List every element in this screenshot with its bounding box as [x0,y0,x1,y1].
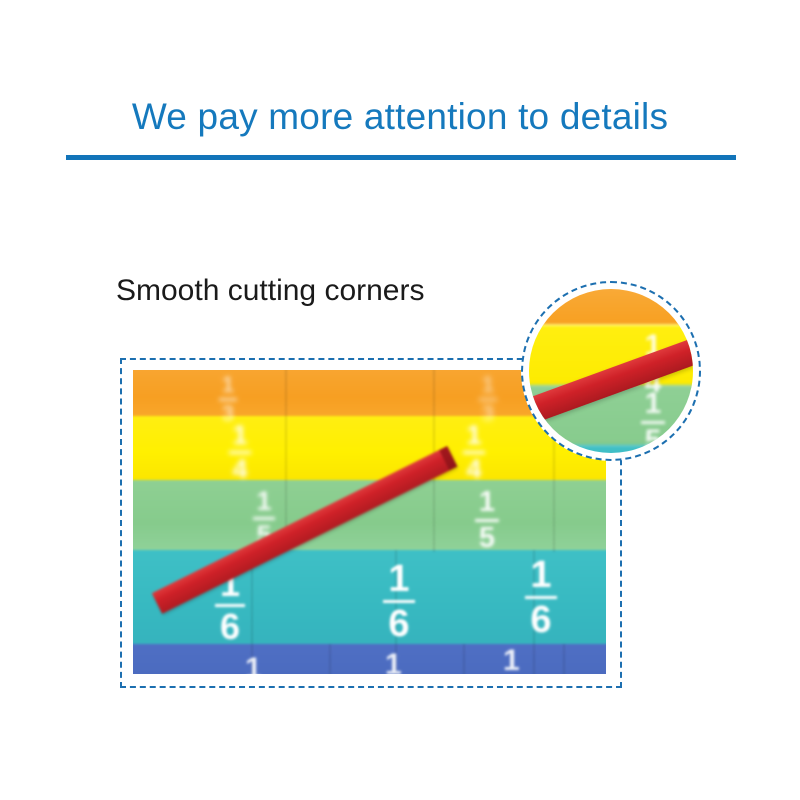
page-title: We pay more attention to details [0,96,800,138]
magnifier-lens: 1 4 1 5 1 [529,289,693,453]
lens-fraction-label-one-fifth: 1 5 [641,389,665,453]
fraction-label-one-sixth: 1 6 [525,556,557,639]
fraction-label-one-quarter: 1 4 [463,422,485,483]
fraction-label-whole: 1 [503,644,520,674]
header-band: We pay more attention to details [0,0,800,175]
fraction-label-one-sixth: 1 6 [383,560,415,643]
fraction-label-one-third: 1 3 [219,374,237,425]
fraction-label-whole: 1 [385,648,402,674]
lens-teal-band [529,445,693,453]
magnifier-circle: 1 4 1 5 1 [521,281,701,461]
fraction-label-one-third: 1 3 [479,374,497,425]
block-seam [563,644,565,674]
lens-fraction-label-whole: 1 [565,449,578,453]
block-seam [463,644,465,674]
fraction-label-whole: 1 [245,652,262,674]
lens-orange-band [529,289,693,325]
title-underline-rule [66,155,736,160]
blue-band [133,644,606,674]
fraction-label-one-quarter: 1 4 [229,422,251,483]
fraction-label-one-fifth: 1 5 [475,488,499,553]
caption-smooth-cutting-corners: Smooth cutting corners [116,274,424,308]
block-seam [329,644,331,674]
